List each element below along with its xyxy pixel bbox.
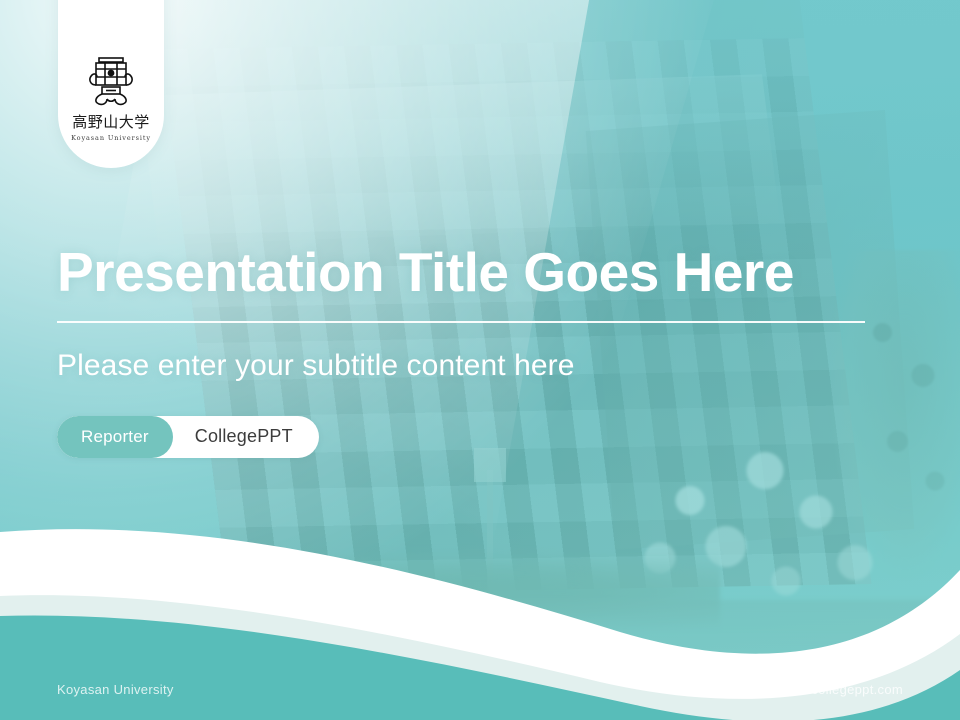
reporter-pill[interactable]: Reporter CollegePPT bbox=[57, 416, 319, 458]
title-divider bbox=[57, 321, 865, 323]
footer-website-url[interactable]: www.collegeppt.com bbox=[779, 682, 903, 697]
presentation-cover-slide: 高野山大学 Koyasan University Presentation Ti… bbox=[0, 0, 960, 720]
page-title: Presentation Title Goes Here bbox=[57, 243, 877, 301]
university-crest-icon bbox=[85, 54, 137, 108]
reporter-value: CollegePPT bbox=[173, 416, 319, 458]
logo-name-japanese: 高野山大学 bbox=[72, 115, 150, 130]
footer-university-name: Koyasan University bbox=[57, 682, 174, 697]
university-logo-tab: 高野山大学 Koyasan University bbox=[58, 0, 164, 168]
logo-name-english: Koyasan University bbox=[71, 134, 151, 142]
title-block: Presentation Title Goes Here Please ente… bbox=[57, 243, 877, 458]
slide-footer: Koyasan University www.collegeppt.com bbox=[0, 664, 960, 720]
page-subtitle: Please enter your subtitle content here bbox=[57, 349, 877, 384]
reporter-label: Reporter bbox=[57, 416, 173, 458]
